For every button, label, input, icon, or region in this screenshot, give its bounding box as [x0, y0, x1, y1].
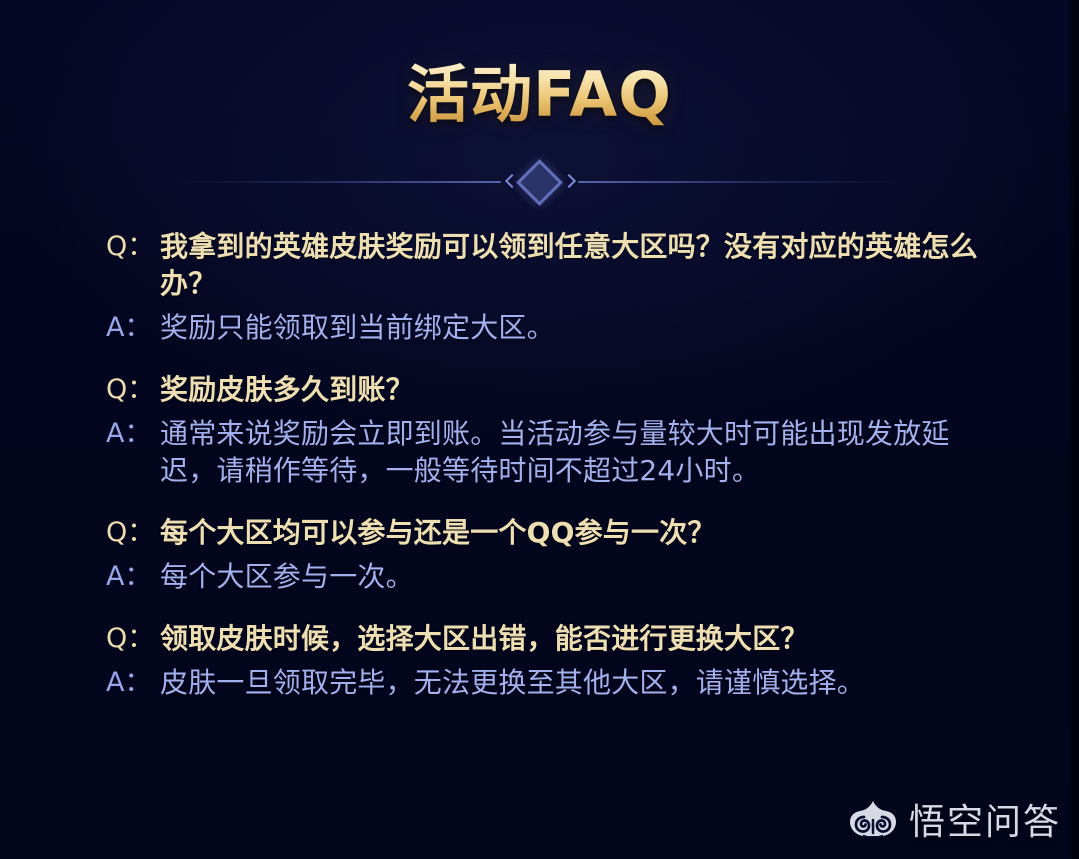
watermark-text: 悟空问答 [909, 793, 1061, 845]
faq-question-row: Q： 每个大区均可以参与还是一个QQ参与一次？ [106, 514, 986, 551]
answer-label: A： [106, 664, 160, 701]
answer-text: 通常来说奖励会立即到账。当活动参与量较大时可能出现发放延迟，请稍作等待，一般等待… [160, 415, 986, 489]
question-text: 领取皮肤时候，选择大区出错，能否进行更换大区？ [160, 620, 986, 657]
faq-answer-row: A： 皮肤一旦领取完毕，无法更换至其他大区，请谨慎选择。 [106, 664, 986, 701]
monkey-king-crown-icon [848, 800, 898, 838]
chevron-left-icon [505, 174, 516, 190]
question-text: 奖励皮肤多久到账？ [160, 371, 986, 408]
page-title: 活动FAQ [407, 62, 672, 129]
question-label: Q： [106, 620, 160, 657]
divider-line-left [171, 181, 501, 183]
faq-answer-row: A： 奖励只能领取到当前绑定大区。 [106, 309, 986, 346]
faq-answer-row: A： 每个大区参与一次。 [106, 558, 986, 595]
answer-text: 每个大区参与一次。 [160, 558, 986, 595]
answer-label: A： [106, 415, 160, 452]
section-divider [0, 168, 1079, 196]
chevron-right-icon [563, 174, 574, 190]
page-title-container: 活动FAQ [0, 62, 1079, 129]
faq-question-row: Q： 我拿到的英雄皮肤奖励可以领到任意大区吗？没有对应的英雄怎么办？ [106, 228, 986, 302]
faq-item: Q： 领取皮肤时候，选择大区出错，能否进行更换大区？ A： 皮肤一旦领取完毕，无… [106, 620, 986, 701]
question-label: Q： [106, 228, 160, 265]
faq-question-row: Q： 领取皮肤时候，选择大区出错，能否进行更换大区？ [106, 620, 986, 657]
diamond-ornament-icon [516, 159, 563, 206]
question-text: 每个大区均可以参与还是一个QQ参与一次？ [160, 514, 986, 551]
divider-line-right [578, 181, 908, 183]
faq-question-row: Q： 奖励皮肤多久到账？ [106, 371, 986, 408]
watermark: 悟空问答 [848, 793, 1061, 845]
faq-page: 活动FAQ Q： 我拿到的英雄皮肤奖励可以领到任意大区吗？没有对应的英雄怎么办？… [0, 0, 1079, 859]
answer-label: A： [106, 558, 160, 595]
question-label: Q： [106, 371, 160, 408]
faq-item: Q： 奖励皮肤多久到账？ A： 通常来说奖励会立即到账。当活动参与量较大时可能出… [106, 371, 986, 489]
question-label: Q： [106, 514, 160, 551]
answer-label: A： [106, 309, 160, 346]
faq-answer-row: A： 通常来说奖励会立即到账。当活动参与量较大时可能出现发放延迟，请稍作等待，一… [106, 415, 986, 489]
answer-text: 奖励只能领取到当前绑定大区。 [160, 309, 986, 346]
faq-item: Q： 每个大区均可以参与还是一个QQ参与一次？ A： 每个大区参与一次。 [106, 514, 986, 595]
faq-list: Q： 我拿到的英雄皮肤奖励可以领到任意大区吗？没有对应的英雄怎么办？ A： 奖励… [106, 228, 986, 701]
question-text: 我拿到的英雄皮肤奖励可以领到任意大区吗？没有对应的英雄怎么办？ [160, 228, 986, 302]
faq-item: Q： 我拿到的英雄皮肤奖励可以领到任意大区吗？没有对应的英雄怎么办？ A： 奖励… [106, 228, 986, 346]
answer-text: 皮肤一旦领取完毕，无法更换至其他大区，请谨慎选择。 [160, 664, 986, 701]
